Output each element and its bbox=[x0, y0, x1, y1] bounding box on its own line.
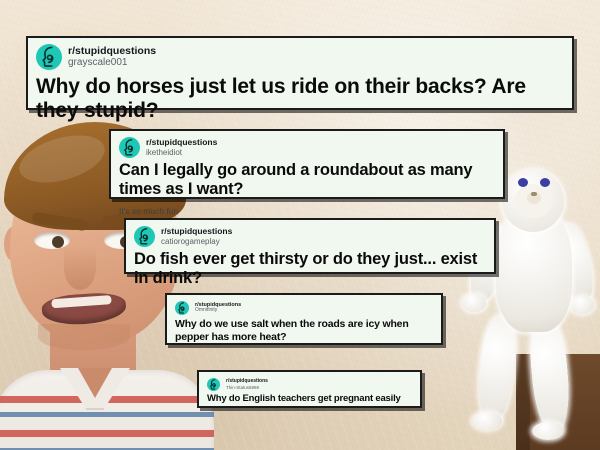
post-meta: r/stupidquestions Omnifinity bbox=[195, 302, 241, 314]
nose bbox=[64, 246, 96, 290]
stupidquestions-avatar-icon bbox=[207, 378, 220, 391]
post-header: r/stupidquestions iketheidiot bbox=[119, 137, 495, 158]
username[interactable]: iketheidiot bbox=[146, 148, 217, 157]
subreddit-name[interactable]: r/stupidquestions bbox=[146, 138, 217, 148]
stupidquestions-avatar-icon bbox=[119, 137, 140, 158]
left-eye bbox=[518, 178, 528, 187]
left-leg bbox=[474, 315, 519, 426]
post-header: r/stupidquestions catiorogameplay bbox=[134, 226, 486, 247]
stupidquestions-avatar-icon bbox=[175, 301, 189, 315]
right-foot bbox=[532, 422, 564, 440]
username[interactable]: Thin-Status6969 bbox=[226, 385, 268, 390]
post-meta: r/stupidquestions catiorogameplay bbox=[161, 227, 232, 246]
reddit-post-card[interactable]: r/stupidquestions catiorogameplay Do fis… bbox=[124, 218, 496, 274]
post-title: Why do horses just let us ride on their … bbox=[36, 75, 564, 123]
username[interactable]: grayscale001 bbox=[68, 57, 156, 69]
shirt-stripe bbox=[0, 430, 214, 437]
subreddit-name[interactable]: r/stupidquestions bbox=[68, 45, 156, 57]
post-header: r/stupidquestions Thin-Status6969 bbox=[207, 378, 412, 391]
meme-collage: r/stupidquestions grayscale001 Why do ho… bbox=[0, 0, 600, 450]
username[interactable]: Omnifinity bbox=[195, 308, 241, 314]
nose bbox=[531, 192, 537, 196]
post-meta: r/stupidquestions grayscale001 bbox=[68, 45, 156, 69]
post-title: Do fish ever get thirsty or do they just… bbox=[134, 250, 486, 288]
pupil bbox=[52, 236, 64, 248]
username[interactable]: catiorogameplay bbox=[161, 237, 232, 246]
post-body: It's so much fun bbox=[119, 206, 495, 216]
post-header: r/stupidquestions Omnifinity bbox=[175, 301, 433, 315]
post-title: Why do we use salt when the roads are ic… bbox=[175, 318, 433, 344]
post-meta: r/stupidquestions iketheidiot bbox=[146, 138, 217, 157]
chin-shadow bbox=[38, 324, 130, 350]
post-header: r/stupidquestions grayscale001 bbox=[36, 44, 564, 70]
shirt-stripe bbox=[0, 412, 214, 417]
reddit-post-card[interactable]: r/stupidquestions grayscale001 Why do ho… bbox=[26, 36, 574, 110]
post-title: Why do English teachers get pregnant eas… bbox=[207, 393, 412, 404]
right-hand bbox=[570, 296, 594, 314]
post-title: Can I legally go around a roundabout as … bbox=[119, 161, 495, 199]
reddit-post-card[interactable]: r/stupidquestions Omnifinity Why do we u… bbox=[165, 293, 443, 345]
reddit-post-card[interactable]: r/stupidquestions Thin-Status6969 Why do… bbox=[197, 370, 422, 408]
subreddit-name[interactable]: r/stupidquestions bbox=[161, 227, 232, 237]
stupidquestions-avatar-icon bbox=[134, 226, 155, 247]
teeth bbox=[51, 295, 111, 308]
reddit-post-card[interactable]: r/stupidquestions iketheidiot Can I lega… bbox=[109, 129, 505, 199]
left-foot bbox=[472, 412, 502, 430]
post-meta: r/stupidquestions Thin-Status6969 bbox=[226, 379, 268, 390]
right-eye bbox=[540, 178, 550, 187]
stupidquestions-avatar-icon bbox=[36, 44, 62, 70]
left-hand bbox=[462, 294, 486, 312]
